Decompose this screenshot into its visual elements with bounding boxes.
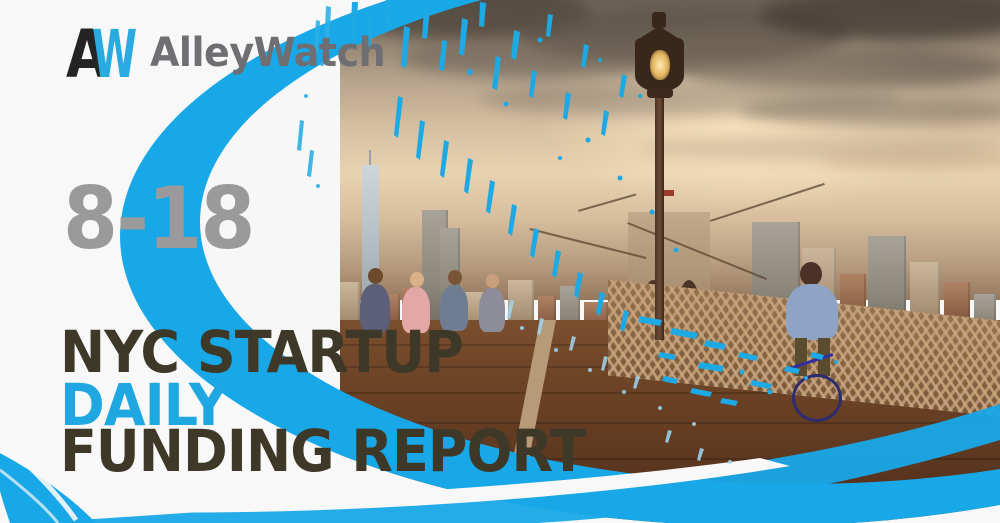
logo-wordmark: AlleyWatch <box>150 30 385 76</box>
date-label: 8-18 <box>63 176 254 262</box>
logo-mark-aw: A W <box>66 22 144 82</box>
street-lamp-post <box>655 78 664 340</box>
cyclist <box>786 284 838 340</box>
logo-letter-w: W <box>92 22 135 88</box>
alleywatch-logo[interactable]: A W AlleyWatch <box>66 22 398 82</box>
headline-line-3: FUNDING REPORT <box>60 424 585 479</box>
alleywatch-funding-report-banner: A W AlleyWatch 8-18 NYC STARTUP DAILY FU… <box>0 0 1000 523</box>
